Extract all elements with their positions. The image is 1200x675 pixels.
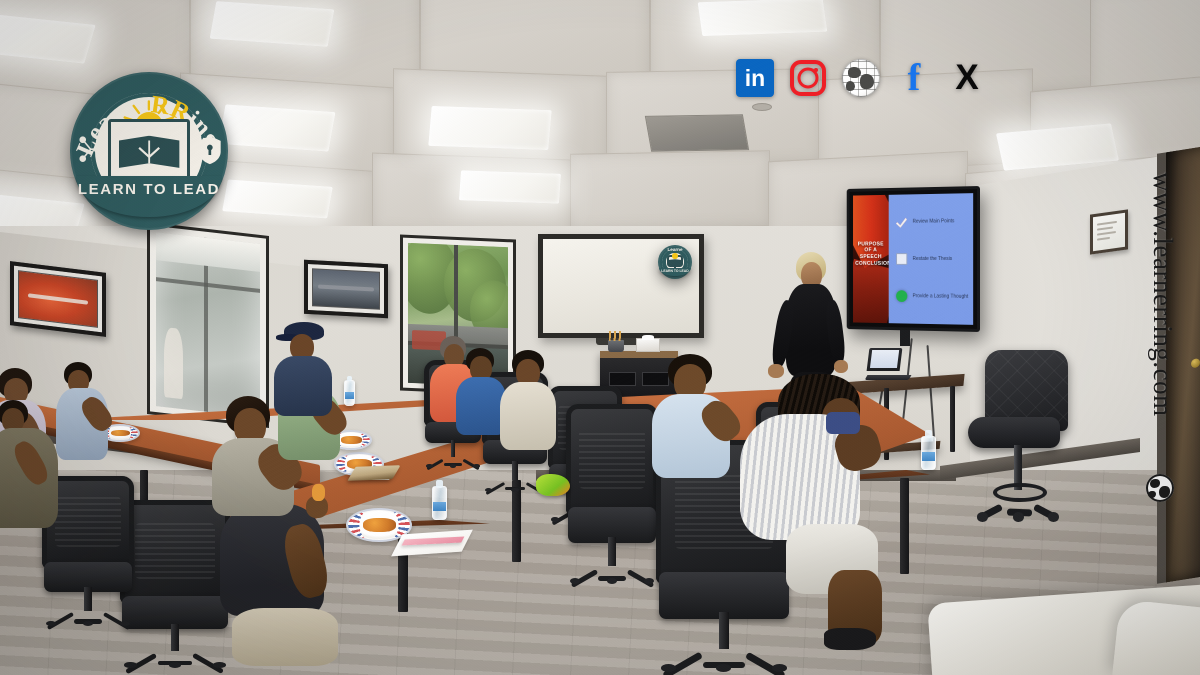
framed-photo-aircraft — [304, 260, 388, 318]
shoe — [824, 628, 876, 650]
tissue-box — [636, 338, 660, 352]
food-item — [312, 484, 325, 501]
x-label: X — [955, 59, 978, 97]
chair-base — [570, 561, 655, 584]
student-10 — [500, 350, 562, 450]
slide-bullet: Restate the Thesis — [896, 253, 968, 265]
slide-bullet-text: Provide a Lasting Thought — [913, 293, 969, 300]
chair-base — [426, 454, 479, 468]
slide-bullet-text: Review Main Points — [913, 218, 955, 224]
table-leg — [950, 386, 955, 452]
slide-bullet: Provide a Lasting Thought — [896, 290, 968, 303]
student-sleeve — [826, 412, 860, 434]
student-torso — [500, 382, 556, 450]
website-watermark: www.learnerring.com — [1147, 172, 1178, 417]
network-node-icon — [78, 135, 102, 163]
slide-title-line-3: CONCLUSION — [855, 261, 886, 268]
tv-wall-mount — [900, 330, 910, 346]
shield-icon — [198, 135, 222, 165]
facebook-icon[interactable]: f — [894, 58, 934, 98]
slide-title-line-1: PURPOSE OF A — [855, 241, 886, 254]
interior-window — [150, 225, 266, 424]
presenter-hand — [834, 360, 848, 373]
sneaker — [536, 474, 570, 496]
ceiling-light-panel — [218, 104, 335, 151]
student-torso — [456, 377, 506, 435]
logo-tagline: LEARN TO LEAD — [76, 181, 221, 198]
student-12 — [730, 374, 880, 654]
water-bottle[interactable] — [432, 486, 447, 520]
student-legs — [232, 608, 338, 666]
drafting-stool-chair[interactable] — [968, 350, 1072, 525]
student-7 — [272, 322, 338, 414]
whiteboard: LEARN TO LEAD Learne — [538, 234, 704, 338]
sticker-tagline: LEARN TO LEAD — [659, 269, 690, 273]
framed-photo-helicopter — [10, 261, 106, 337]
whiteboard-logo-sticker: LEARN TO LEAD Learne — [658, 245, 692, 279]
learnerring-logo: LearneRRing — [70, 72, 228, 230]
slide-bullet-text: Restate the Thesis — [913, 256, 953, 262]
instagram-icon[interactable] — [788, 58, 828, 98]
sticker-wordmark: Learne — [658, 247, 692, 252]
laptop-screen — [870, 350, 899, 368]
chair-base — [46, 607, 131, 627]
chair-seat — [968, 417, 1060, 449]
watermark-globe-icon — [1146, 474, 1174, 502]
chair-base — [124, 646, 225, 668]
ceiling-light-panel — [698, 0, 828, 36]
ceiling-light-panel — [459, 170, 561, 203]
table-leg — [900, 478, 909, 574]
check-icon — [896, 216, 907, 228]
table-leg — [512, 480, 521, 562]
draped-tablecloth — [1112, 599, 1200, 675]
document-icon — [896, 253, 907, 265]
x-twitter-icon[interactable]: X — [947, 58, 987, 98]
pencil-cup — [608, 340, 624, 352]
ceiling-light-panel — [210, 1, 335, 47]
water-bottle[interactable] — [921, 436, 936, 470]
classroom-photo: LEARN TO LEAD Learne PURPOSE OF A SPEECH… — [0, 0, 1200, 675]
smoke-detector-icon — [752, 103, 772, 111]
ceiling-light-panel — [428, 106, 551, 150]
open-book-icon — [116, 135, 182, 170]
globe-icon[interactable] — [841, 58, 881, 98]
student-3 — [56, 362, 116, 472]
social-icons-overlay: in f X — [735, 58, 987, 98]
slide-title-panel: PURPOSE OF A SPEECH CONCLUSION — [853, 195, 889, 323]
green-dot-icon — [896, 290, 907, 302]
door-knob-icon[interactable] — [1191, 358, 1200, 368]
linkedin-icon[interactable]: in — [735, 58, 775, 98]
laptop-lid — [867, 348, 902, 371]
wall-mounted-tv: PURPOSE OF A SPEECH CONCLUSION Review Ma… — [847, 186, 980, 332]
chair-backrest — [566, 404, 658, 516]
slide-bullet: Review Main Points — [896, 215, 968, 228]
slide-body-panel: Review Main Points Restate the Thesis Pr… — [889, 193, 974, 325]
presentation-slide: PURPOSE OF A SPEECH CONCLUSION Review Ma… — [853, 193, 973, 325]
facebook-label: f — [908, 59, 921, 97]
chair-base — [978, 494, 1061, 522]
framed-certificate — [1090, 209, 1128, 254]
mesh-office-chair[interactable] — [566, 404, 658, 584]
linkedin-label: in — [736, 59, 774, 97]
student-torso — [274, 356, 332, 416]
ceiling-vent — [645, 114, 749, 152]
